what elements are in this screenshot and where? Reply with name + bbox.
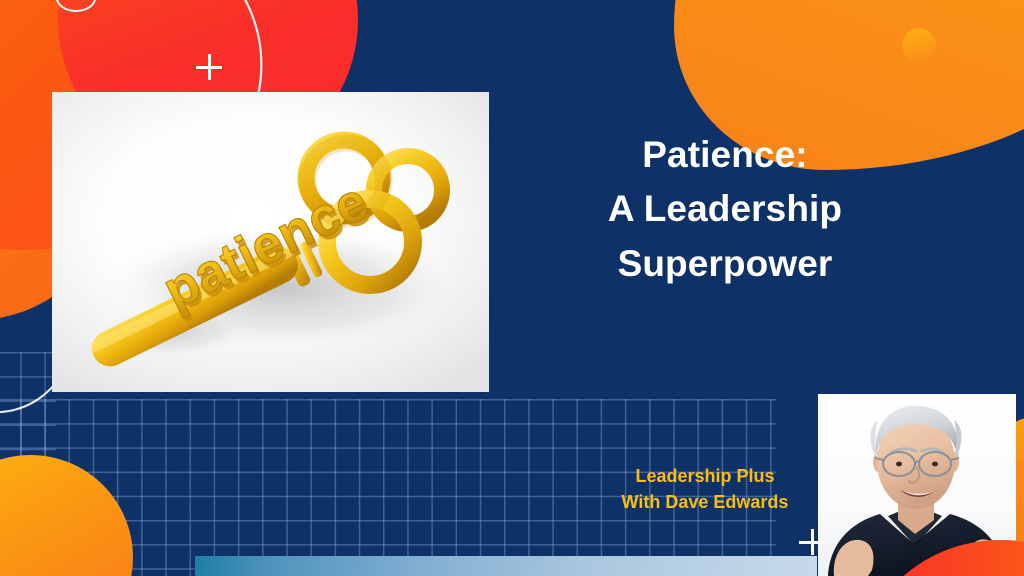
blob-top-right-circle: [902, 28, 936, 62]
title-line-1: Patience:: [540, 128, 910, 182]
bottom-sky-strip: [195, 556, 817, 576]
golden-key-illustration: patience patience: [52, 92, 489, 392]
plus-mark-icon-top: [196, 54, 222, 80]
title-line-2: A Leadership: [540, 182, 910, 236]
blob-bottom-left-circle: [0, 455, 133, 576]
slide-title: Patience: A Leadership Superpower: [540, 128, 910, 291]
title-line-3: Superpower: [540, 237, 910, 291]
plus-mark-icon-bottom: [799, 529, 825, 555]
presentation-slide: patience patience Patience: A Leadership…: [0, 0, 1024, 576]
key-photo: patience patience: [52, 92, 489, 392]
